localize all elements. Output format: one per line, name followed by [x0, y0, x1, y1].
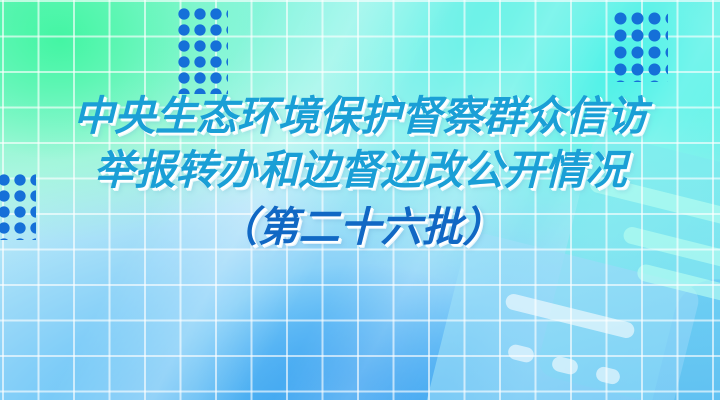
- title-line-2: 举报转办和边督边改公开情况: [0, 144, 720, 196]
- dot-grid-icon: [176, 6, 228, 94]
- page-title: 中央生态环境保护督察群众信访 举报转办和边督边改公开情况 （第二十六批）: [0, 90, 720, 253]
- title-line-3-batch: （第二十六批）: [0, 201, 720, 253]
- poster-banner: 中央生态环境保护督察群众信访 举报转办和边督边改公开情况 （第二十六批）: [0, 0, 720, 400]
- title-line-1: 中央生态环境保护督察群众信访: [0, 90, 720, 142]
- dot-grid-icon: [612, 10, 668, 82]
